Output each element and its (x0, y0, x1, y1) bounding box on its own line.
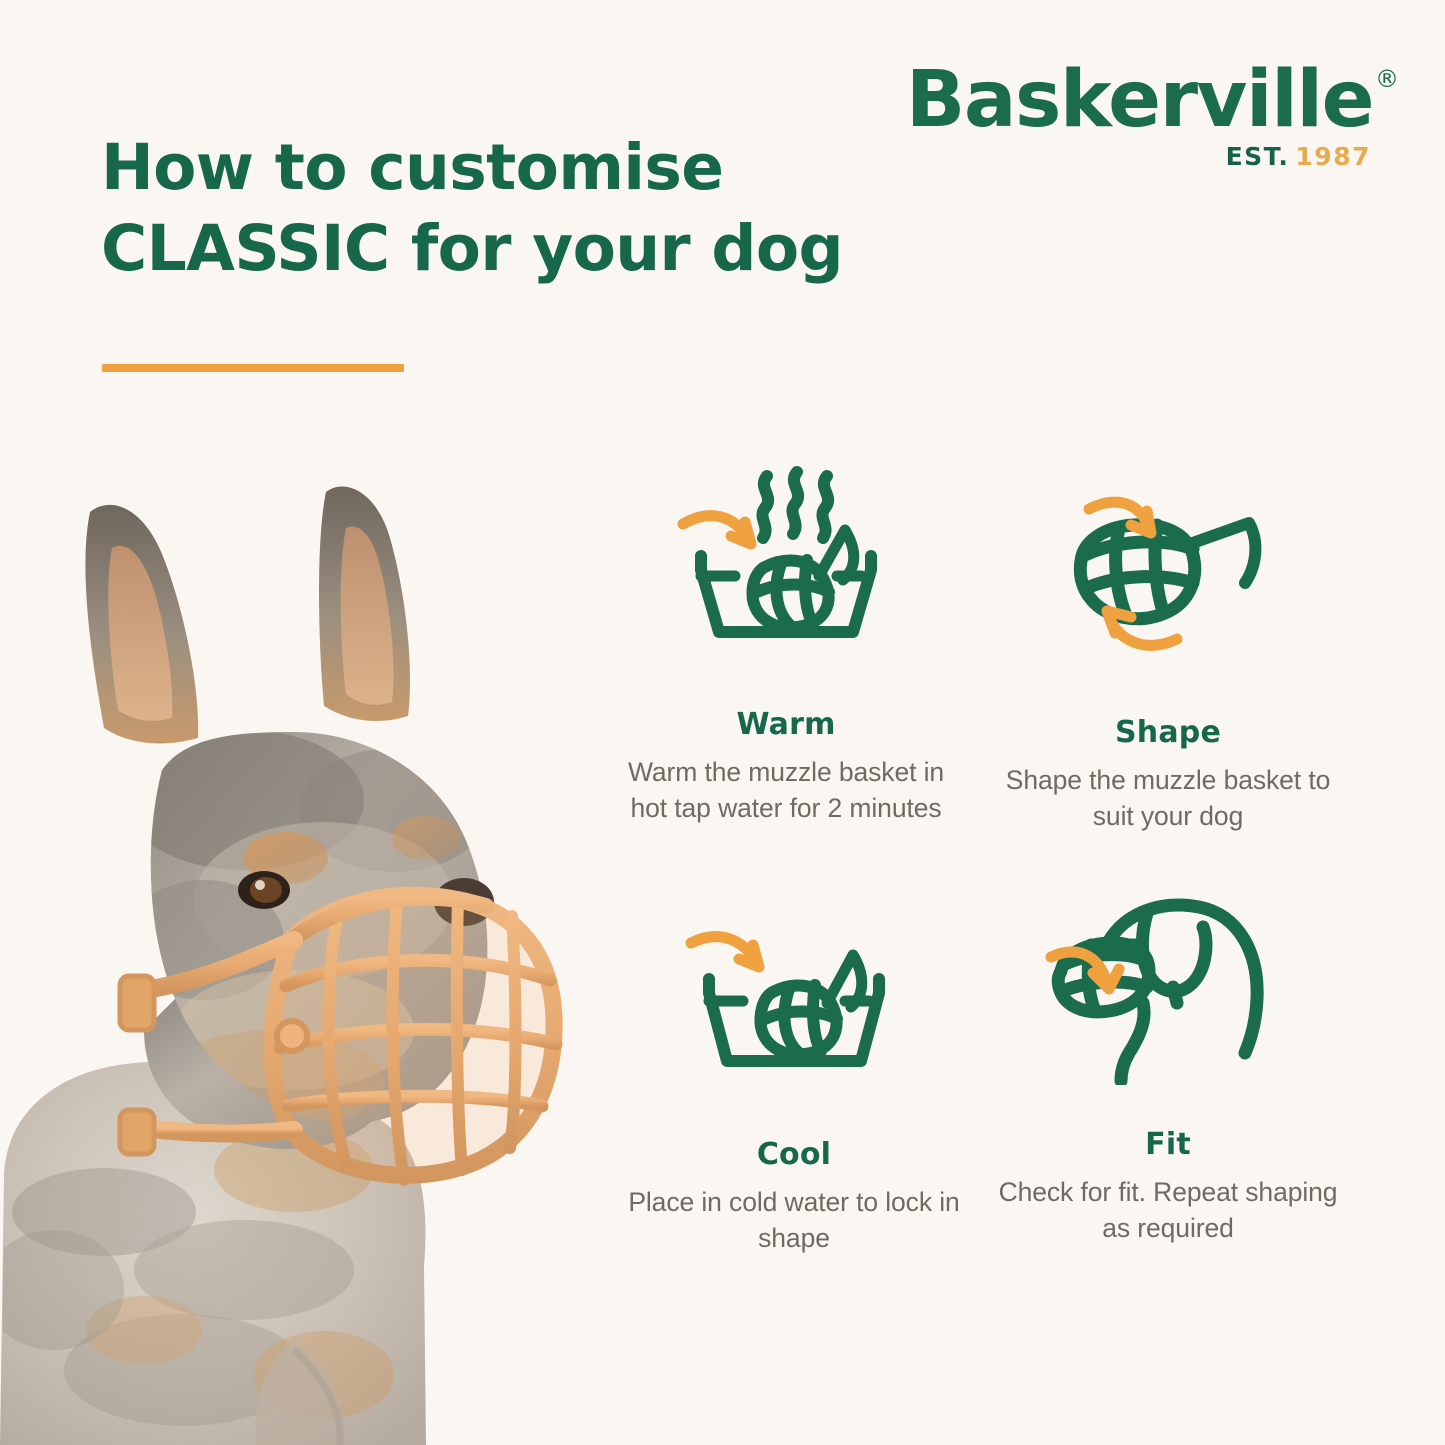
brand-logo: Baskerville® EST.1987 (906, 62, 1373, 171)
accent-rule (102, 364, 404, 372)
infographic-page: Baskerville® EST.1987 How to customise C… (0, 0, 1445, 1445)
step-description: Place in cold water to lock in shape (618, 1185, 970, 1256)
brand-wordmark-text: Baskerville (906, 55, 1373, 145)
page-title-line-2: CLASSIC for your dog (101, 209, 861, 290)
established-label: EST. (1226, 142, 1290, 171)
step-title: Fit (992, 1127, 1344, 1162)
step-shape: Shape Shape the muzzle basket to suit yo… (992, 477, 1344, 834)
step-description: Check for fit. Repeat shaping as require… (992, 1175, 1344, 1246)
step-cool: Cool Place in cold water to lock in shap… (618, 885, 970, 1256)
step-title: Cool (618, 1137, 970, 1172)
dog-ears (85, 487, 410, 744)
page-title: How to customise CLASSIC for your dog (101, 128, 861, 289)
steps-grid: Warm Warm the muzzle basket in hot tap w… (610, 455, 1400, 1275)
step-description: Shape the muzzle basket to suit your dog (992, 763, 1344, 834)
step-description: Warm the muzzle basket in hot tap water … (610, 755, 962, 826)
step-title: Warm (610, 707, 962, 742)
step-warm: Warm Warm the muzzle basket in hot tap w… (610, 455, 962, 826)
basin-with-steam-and-muzzle-icon (610, 455, 962, 665)
basin-with-cold-water-and-muzzle-icon (618, 885, 970, 1095)
arrow-into-basin-icon (691, 937, 759, 967)
dog-photo (0, 470, 594, 1445)
muzzle-with-squeeze-arrows-icon (992, 477, 1344, 667)
arrow-into-basin-icon (683, 516, 751, 544)
page-title-line-1: How to customise (101, 131, 723, 204)
brand-wordmark: Baskerville® (906, 62, 1373, 138)
step-fit: Fit Check for fit. Repeat shaping as req… (992, 885, 1344, 1246)
step-title: Shape (992, 715, 1344, 750)
dog-head-with-muzzle-icon (992, 885, 1344, 1085)
brand-established: EST.1987 (906, 142, 1371, 171)
registered-trademark-icon: ® (1375, 68, 1399, 92)
established-year: 1987 (1295, 142, 1371, 171)
